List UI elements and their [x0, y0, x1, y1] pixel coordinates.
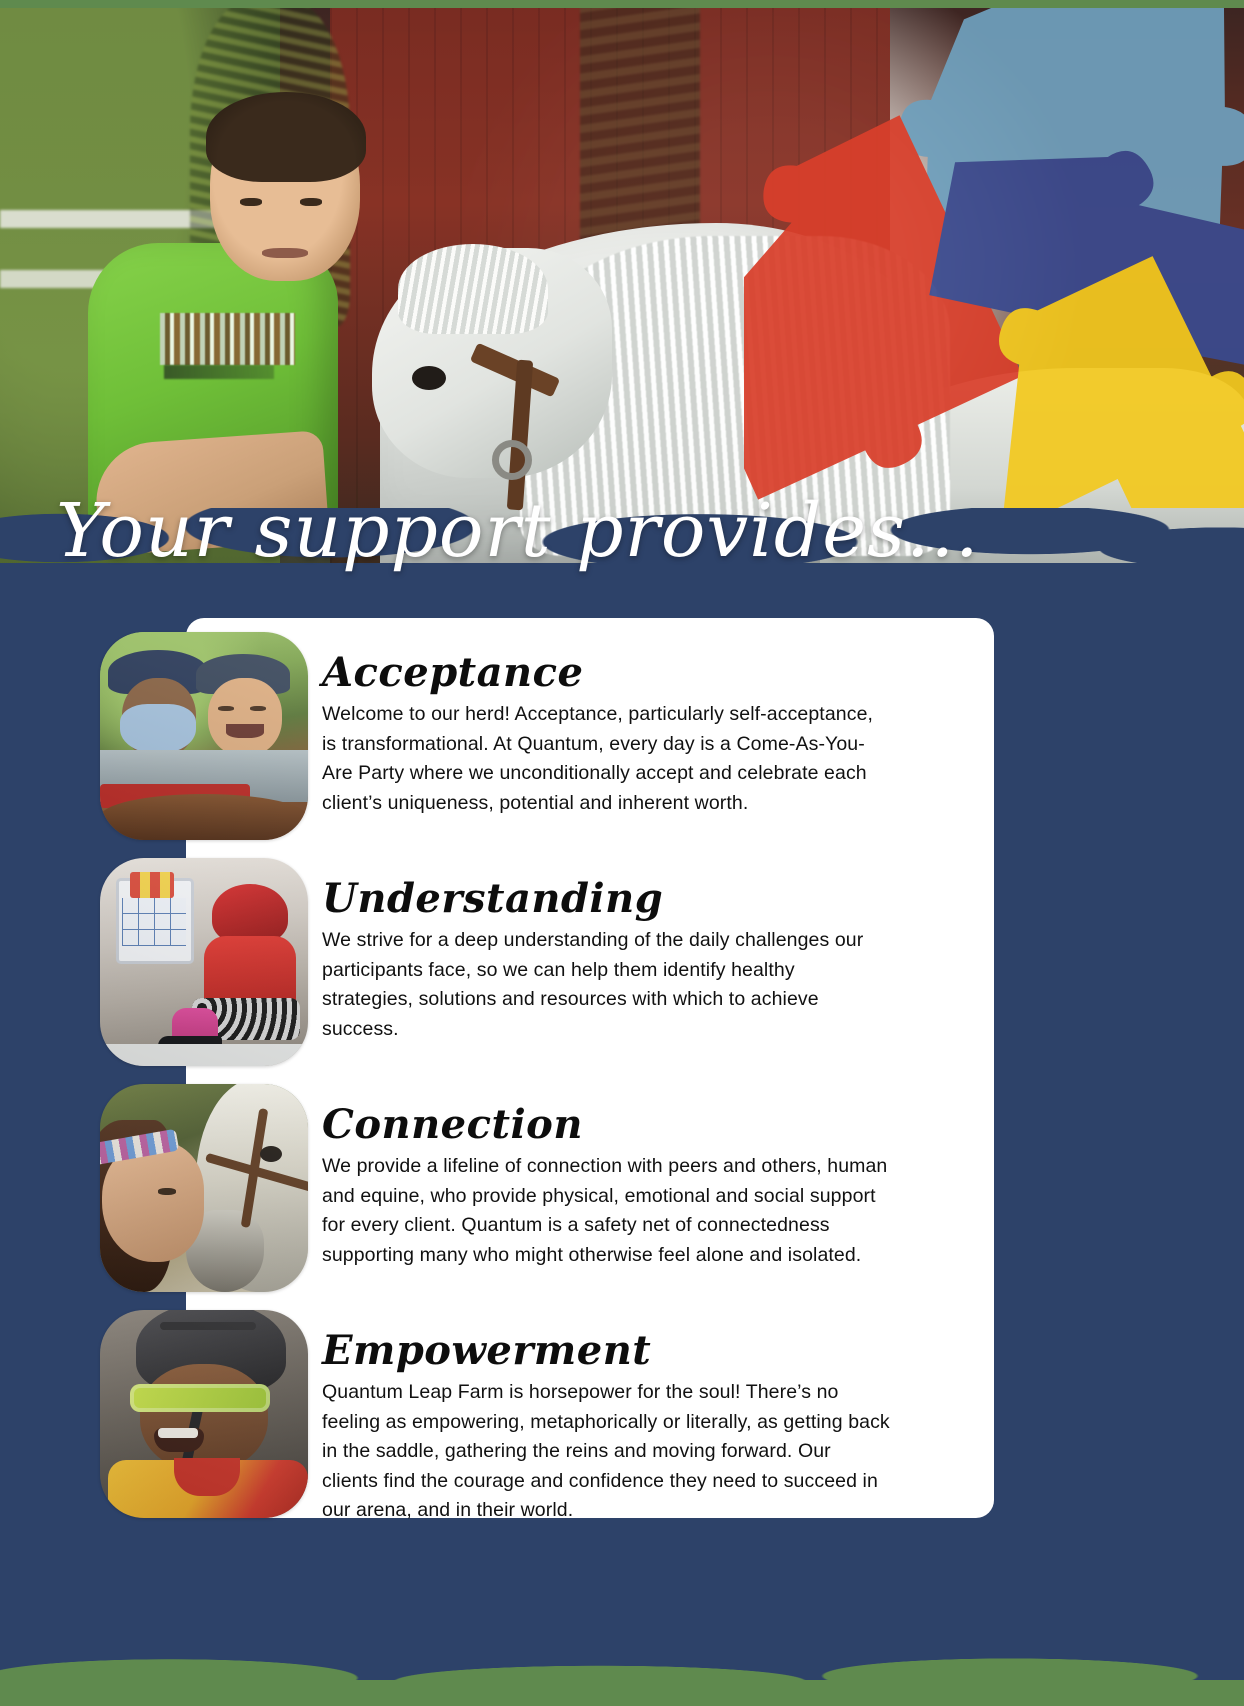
- boy-right-eye: [300, 198, 322, 206]
- value-body-acceptance: Welcome to our herd! Acceptance, particu…: [322, 700, 890, 818]
- value-title-empowerment: Empowerment: [322, 1330, 890, 1372]
- values-card: Acceptance Welcome to our herd! Acceptan…: [186, 618, 994, 1518]
- horse-forelock: [398, 244, 548, 334]
- boy-mouth: [262, 248, 308, 258]
- tshirt-logo: [160, 313, 295, 365]
- photo-adult-hugging-child-on-horse: [100, 632, 308, 840]
- photo-girl-face-to-face-with-horse: [100, 1084, 308, 1292]
- page-title: Your support provides...: [56, 494, 980, 568]
- boy-left-eye: [240, 198, 262, 206]
- horse-eye: [412, 366, 446, 390]
- photo-boy-in-riding-helmet-and-sunglasses: [100, 1310, 308, 1518]
- value-body-empowerment: Quantum Leap Farm is horsepower for the …: [322, 1378, 890, 1526]
- photo-child-rider-with-activity-board: [100, 858, 308, 1066]
- value-title-acceptance: Acceptance: [322, 652, 890, 694]
- value-body-connection: We provide a lifeline of connection with…: [322, 1152, 890, 1270]
- value-body-understanding: We strive for a deep understanding of th…: [322, 926, 890, 1044]
- boy-hair: [206, 92, 366, 182]
- horse-bit-ring: [492, 440, 532, 480]
- value-title-connection: Connection: [322, 1104, 890, 1146]
- value-title-understanding: Understanding: [322, 878, 890, 920]
- hero-photo: [0, 8, 1244, 568]
- page-inner-panel: Your support provides... Acceptance Welc…: [0, 8, 1244, 1688]
- brochure-page: Your support provides... Acceptance Welc…: [0, 0, 1244, 1706]
- puzzle-pieces-graphic: [744, 8, 1244, 508]
